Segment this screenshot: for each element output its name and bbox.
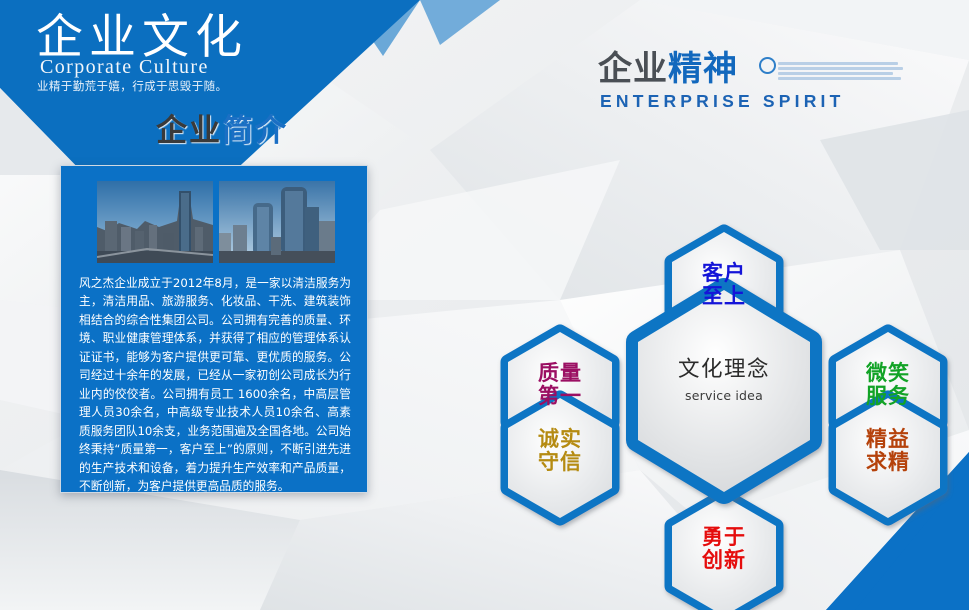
enterprise-spirit-heading: 企业精神 ENTERPRISE SPIRIT xyxy=(598,52,928,114)
banner-subtitle: 业精于勤荒于嬉，行成于思毁于随。 xyxy=(37,78,227,94)
company-intro-card: 风之杰企业成立于2012年8月，是一家以清洁服务为主，清洁用品、旅游服务、化妆品… xyxy=(60,165,368,493)
banner-title-zh: 企业文化 xyxy=(36,14,248,61)
photo-strip xyxy=(97,181,335,263)
spirit-title-dark: 企业 xyxy=(598,49,668,89)
company-intro-text: 风之杰企业成立于2012年8月，是一家以清洁服务为主，清洁用品、旅游服务、化妆品… xyxy=(79,274,351,496)
intro-heading-blue: 简介 xyxy=(222,113,288,149)
decorative-text-lines xyxy=(778,55,903,87)
city-photo-1 xyxy=(97,181,213,263)
circle-accent-icon xyxy=(759,57,776,74)
culture-hexagon-diagram: 客户 至上 质量 第一 微笑 服务 诚实 守信 精益 求精 勇于 创新 文化理念… xyxy=(488,110,969,610)
banner-title-en: Corporate Culture xyxy=(40,56,209,79)
company-intro-heading: 企业简介 xyxy=(156,116,288,147)
poster-canvas: 企业文化 Corporate Culture 业精于勤荒于嬉，行成于思毁于随。 … xyxy=(0,0,969,610)
spirit-title: 企业精神 xyxy=(598,52,738,86)
spirit-title-blue: 精神 xyxy=(668,49,738,89)
intro-heading-dark: 企业 xyxy=(156,113,222,149)
city-photo-2 xyxy=(219,181,335,263)
spirit-title-en: ENTERPRISE SPIRIT xyxy=(600,91,845,112)
